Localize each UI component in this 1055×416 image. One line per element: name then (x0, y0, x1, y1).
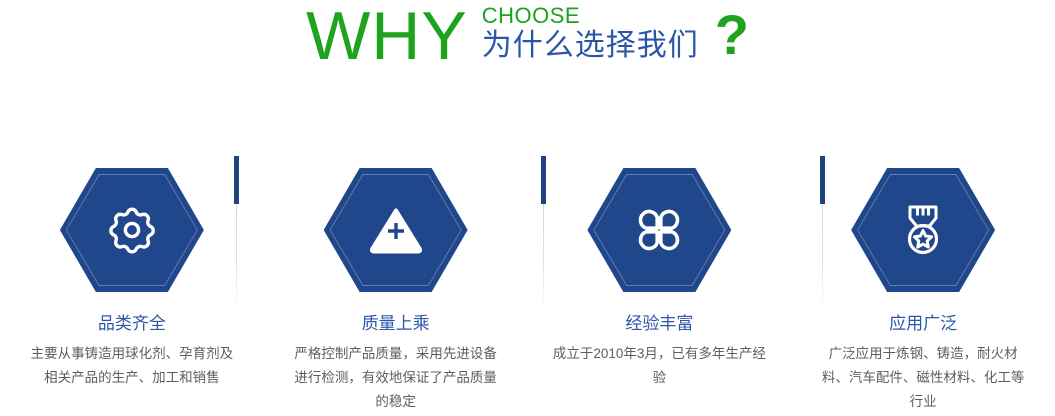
heading-choose-word: CHOOSE (482, 4, 699, 28)
card-description: 成立于2010年3月，已有多年生产经验 (552, 342, 767, 390)
heading-chinese-title: 为什么选择我们 (482, 28, 699, 64)
card-title: 质量上乘 (362, 314, 430, 334)
card-title: 应用广泛 (889, 314, 957, 334)
heading-text-stack: CHOOSE 为什么选择我们 (482, 2, 699, 64)
triangle-plus-icon (324, 168, 468, 292)
hexagon-badge (60, 168, 204, 292)
card-description: 主要从事铸造用球化剂、孕育剂及相关产品的生产、加工和销售 (24, 342, 239, 390)
heading-inner: WHY CHOOSE 为什么选择我们 ? (306, 0, 749, 70)
divider-fade-segment (822, 204, 823, 314)
feature-cards-row: 品类齐全 主要从事铸造用球化剂、孕育剂及相关产品的生产、加工和销售 质量上乘 严… (0, 150, 1055, 416)
card-divider (541, 150, 546, 416)
medal-icon (851, 168, 995, 292)
feature-card[interactable]: 质量上乘 严格控制产品质量，采用先进设备进行检测，有效地保证了产品质量的稳定 (264, 150, 528, 416)
feature-card[interactable]: 经验丰富 成立于2010年3月，已有多年生产经验 (528, 150, 792, 416)
feature-card[interactable]: 应用广泛 广泛应用于炼钢、铸造，耐火材料、汽车配件、磁性材料、化工等行业 (791, 150, 1055, 416)
card-description: 广泛应用于炼钢、铸造，耐火材料、汽车配件、磁性材料、化工等行业 (816, 342, 1031, 414)
heading-why-word: WHY (306, 2, 468, 70)
gear-icon (60, 168, 204, 292)
divider-accent-segment (234, 156, 239, 204)
clover-icon (587, 168, 731, 292)
card-description: 严格控制产品质量，采用先进设备进行检测，有效地保证了产品质量的稳定 (288, 342, 503, 414)
section-heading: WHY CHOOSE 为什么选择我们 ? (0, 0, 1055, 100)
card-divider (234, 150, 239, 416)
divider-fade-segment (543, 204, 544, 314)
hexagon-badge (324, 168, 468, 292)
divider-accent-segment (541, 156, 546, 204)
hexagon-badge (587, 168, 731, 292)
card-divider (820, 150, 825, 416)
divider-accent-segment (820, 156, 825, 204)
divider-fade-segment (236, 204, 237, 314)
feature-card[interactable]: 品类齐全 主要从事铸造用球化剂、孕育剂及相关产品的生产、加工和销售 (0, 150, 264, 416)
heading-question-mark: ? (715, 6, 749, 70)
hexagon-badge (851, 168, 995, 292)
card-title: 经验丰富 (625, 314, 693, 334)
card-title: 品类齐全 (98, 314, 166, 334)
